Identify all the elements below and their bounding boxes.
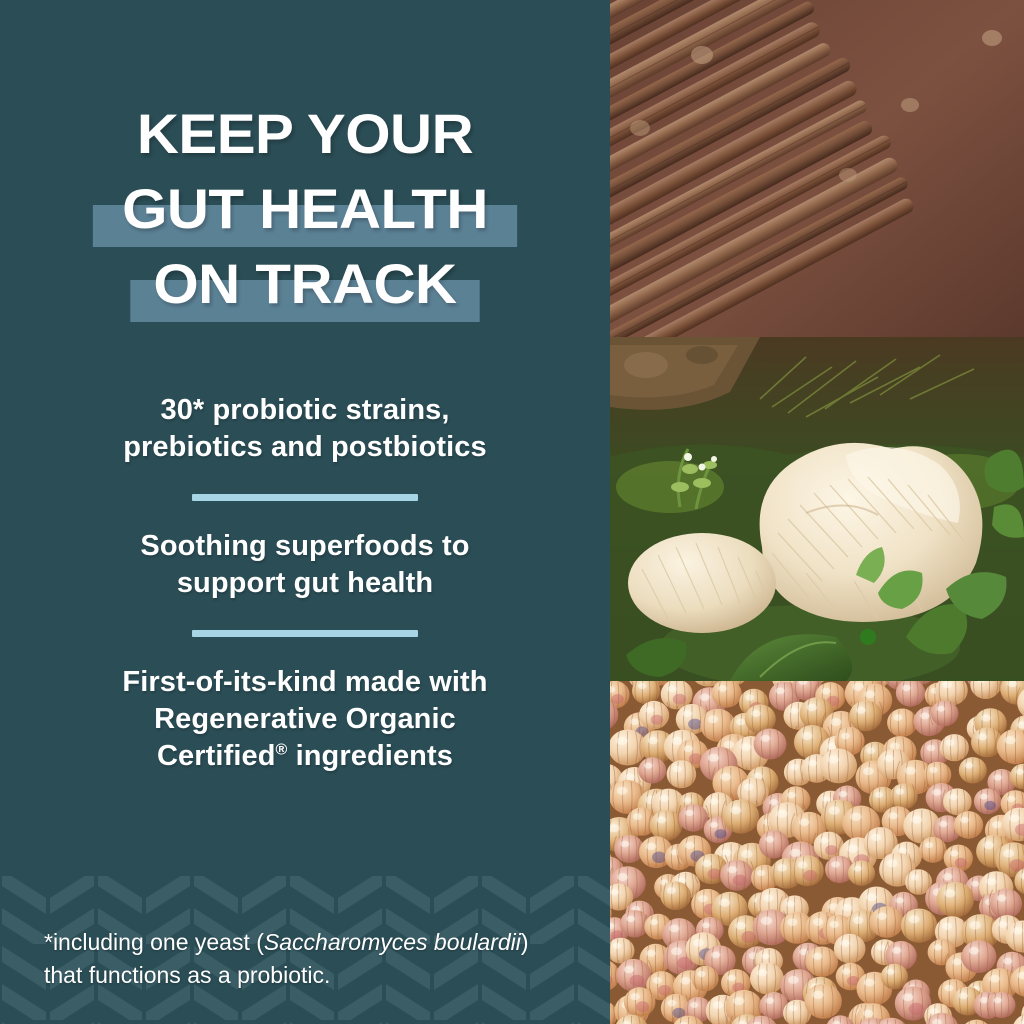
left-text-panel: KEEP YOUR GUT HEALTH ON TRACK 30* probio…	[0, 0, 610, 1024]
photo-licorice-root-sticks	[610, 0, 1024, 337]
headline-line-1-text: KEEP YOUR	[137, 102, 473, 165]
benefit-item-3: First-of-its-kind made with Regenerative…	[0, 664, 610, 775]
divider-1	[192, 494, 418, 501]
divider-1-wrap	[0, 466, 610, 528]
divider-2	[192, 630, 418, 637]
headline-line-2: GUT HEALTH	[0, 171, 610, 246]
headline-line-1: KEEP YOUR	[0, 96, 610, 171]
benefit-list: 30* probiotic strains, prebiotics and po…	[0, 392, 610, 775]
footnote: *including one yeast (Saccharomyces boul…	[44, 926, 564, 992]
photo-lions-mane-mushroom	[610, 337, 1024, 681]
benefit-item-3-line-3: Certified® ingredients	[60, 738, 550, 775]
headline-line-3-text: ON TRACK	[153, 252, 456, 315]
benefit-item-2-line-1: Soothing superfoods to	[60, 528, 550, 565]
photo-coriander-seeds	[610, 681, 1024, 1024]
footnote-pre-text: *including one yeast (	[44, 929, 264, 955]
benefit-item-1-line-1: 30* probiotic strains,	[60, 392, 550, 429]
benefit-item-1-line-2: prebiotics and postbiotics	[60, 429, 550, 466]
benefit-item-2: Soothing superfoods to support gut healt…	[0, 528, 610, 602]
photo-column	[610, 0, 1024, 1024]
benefit-item-1: 30* probiotic strains, prebiotics and po…	[0, 392, 610, 466]
benefit-item-3-ingredients-text: ingredients	[287, 740, 453, 772]
promo-graphic: KEEP YOUR GUT HEALTH ON TRACK 30* probio…	[0, 0, 1024, 1024]
headline: KEEP YOUR GUT HEALTH ON TRACK	[0, 96, 610, 321]
headline-line-3: ON TRACK	[0, 246, 610, 321]
divider-2-wrap	[0, 602, 610, 664]
headline-line-2-text: GUT HEALTH	[122, 177, 488, 240]
registered-trademark-symbol: ®	[276, 741, 288, 758]
benefit-item-3-line-1: First-of-its-kind made with	[60, 664, 550, 701]
benefit-item-3-certified-text: Certified	[157, 740, 276, 772]
benefit-item-3-line-2: Regenerative Organic	[60, 701, 550, 738]
benefit-item-2-line-2: support gut health	[60, 565, 550, 602]
footnote-species-name: Saccharomyces boulardii	[264, 929, 521, 955]
